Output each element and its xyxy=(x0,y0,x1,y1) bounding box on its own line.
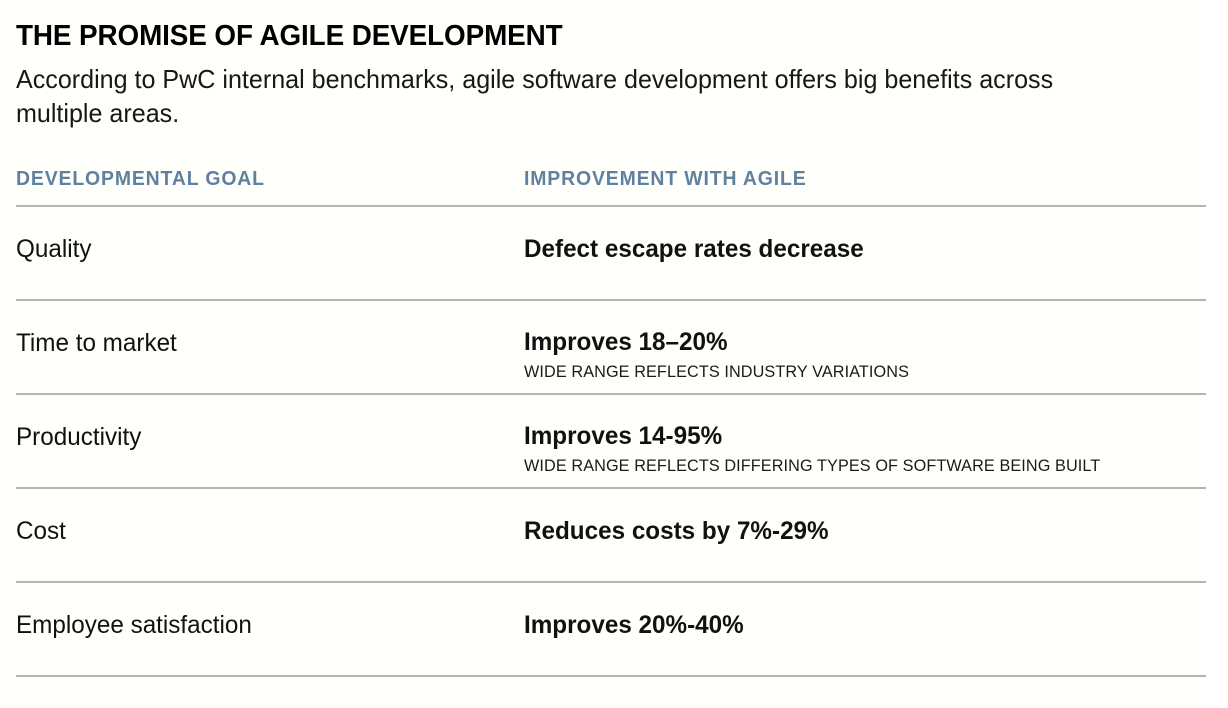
row-improvement-cell: Reduces costs by 7%-29% xyxy=(524,516,1206,546)
row-goal-cell: Productivity xyxy=(16,422,524,452)
row-improvement-cell: Improves 14-95% WIDE RANGE REFLECTS DIFF… xyxy=(524,422,1206,476)
goal-label: Employee satisfaction xyxy=(16,610,509,640)
table-row: Quality Defect escape rates decrease xyxy=(16,207,1206,299)
table-row: Employee satisfaction Improves 20%-40% xyxy=(16,583,1206,675)
row-improvement-cell: Improves 20%-40% xyxy=(524,610,1206,640)
column-header-improvement-with-agile: IMPROVEMENT WITH AGILE xyxy=(524,167,1186,191)
table-row: Productivity Improves 14-95% WIDE RANGE … xyxy=(16,395,1206,487)
goal-label: Productivity xyxy=(16,422,509,452)
table-header-row: DEVELOPMENTAL GOAL IMPROVEMENT WITH AGIL… xyxy=(16,167,1206,205)
divider-row-5 xyxy=(16,675,1206,677)
table-row: Time to market Improves 18–20% WIDE RANG… xyxy=(16,301,1206,393)
page-title: THE PROMISE OF AGILE DEVELOPMENT xyxy=(16,0,1158,53)
column-header-improvement-cell: IMPROVEMENT WITH AGILE xyxy=(524,167,1206,191)
improvement-note: WIDE RANGE REFLECTS INDUSTRY VARIATIONS xyxy=(524,361,1175,382)
document-content: THE PROMISE OF AGILE DEVELOPMENT Accordi… xyxy=(0,0,1228,677)
row-goal-cell: Time to market xyxy=(16,328,524,358)
improvement-note: WIDE RANGE REFLECTS DIFFERING TYPES OF S… xyxy=(524,455,1175,476)
improvement-value: Reduces costs by 7%-29% xyxy=(524,516,1186,546)
row-improvement-cell: Improves 18–20% WIDE RANGE REFLECTS INDU… xyxy=(524,328,1206,382)
row-improvement-cell: Defect escape rates decrease xyxy=(524,234,1206,264)
row-goal-cell: Quality xyxy=(16,234,524,264)
row-goal-cell: Employee satisfaction xyxy=(16,610,524,640)
column-header-developmental-goal: DEVELOPMENTAL GOAL xyxy=(16,167,509,191)
goal-label: Cost xyxy=(16,516,509,546)
column-header-goal-cell: DEVELOPMENTAL GOAL xyxy=(16,167,524,191)
benefits-table: DEVELOPMENTAL GOAL IMPROVEMENT WITH AGIL… xyxy=(16,167,1206,677)
improvement-value: Defect escape rates decrease xyxy=(524,234,1186,264)
row-goal-cell: Cost xyxy=(16,516,524,546)
goal-label: Quality xyxy=(16,234,509,264)
improvement-value: Improves 18–20% xyxy=(524,328,1186,356)
document-page: THE PROMISE OF AGILE DEVELOPMENT Accordi… xyxy=(0,0,1228,708)
table-row: Cost Reduces costs by 7%-29% xyxy=(16,489,1206,581)
improvement-value: Improves 14-95% xyxy=(524,422,1186,450)
goal-label: Time to market xyxy=(16,328,509,358)
improvement-value: Improves 20%-40% xyxy=(524,610,1186,640)
page-subtitle: According to PwC internal benchmarks, ag… xyxy=(16,53,1121,130)
